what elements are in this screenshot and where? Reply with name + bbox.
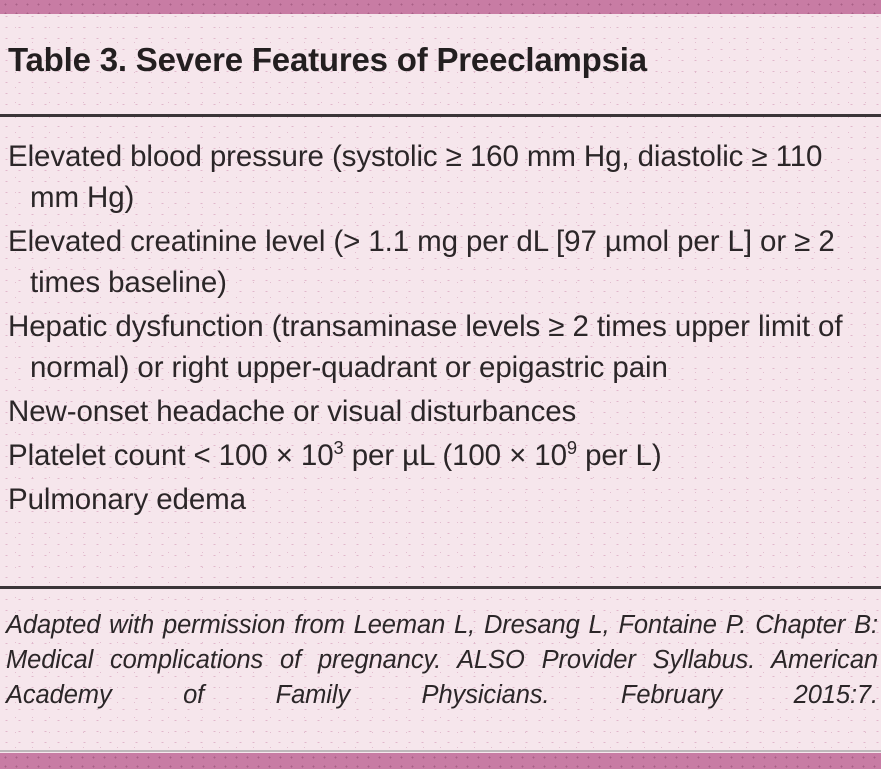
feature-list: Elevated blood pressure (systolic ≥ 160 … bbox=[8, 136, 876, 523]
bottom-band-divider bbox=[0, 750, 881, 752]
header-divider-rule bbox=[0, 114, 881, 117]
exponent: 9 bbox=[567, 437, 577, 458]
row-pulmonary-edema: Pulmonary edema bbox=[8, 479, 876, 520]
footnote-divider-rule bbox=[0, 586, 881, 589]
row-blood-pressure: Elevated blood pressure (systolic ≥ 160 … bbox=[8, 136, 876, 218]
row-headache: New-onset headache or visual disturbance… bbox=[8, 391, 876, 432]
bottom-accent-band bbox=[0, 753, 881, 769]
exponent: 3 bbox=[334, 437, 344, 458]
source-attribution: Adapted with permission from Leeman L, D… bbox=[6, 608, 878, 748]
row-platelet-count: Platelet count < 100 × 103 per µL (100 ×… bbox=[8, 435, 876, 476]
row-creatinine: Elevated creatinine level (> 1.1 mg per … bbox=[8, 221, 876, 303]
top-accent-band bbox=[0, 0, 881, 14]
page-title: Table 3. Severe Features of Preeclampsia bbox=[8, 40, 647, 80]
table-figure: Table 3. Severe Features of Preeclampsia… bbox=[0, 0, 881, 769]
row-hepatic-dysfunction: Hepatic dysfunction (transaminase levels… bbox=[8, 306, 876, 388]
